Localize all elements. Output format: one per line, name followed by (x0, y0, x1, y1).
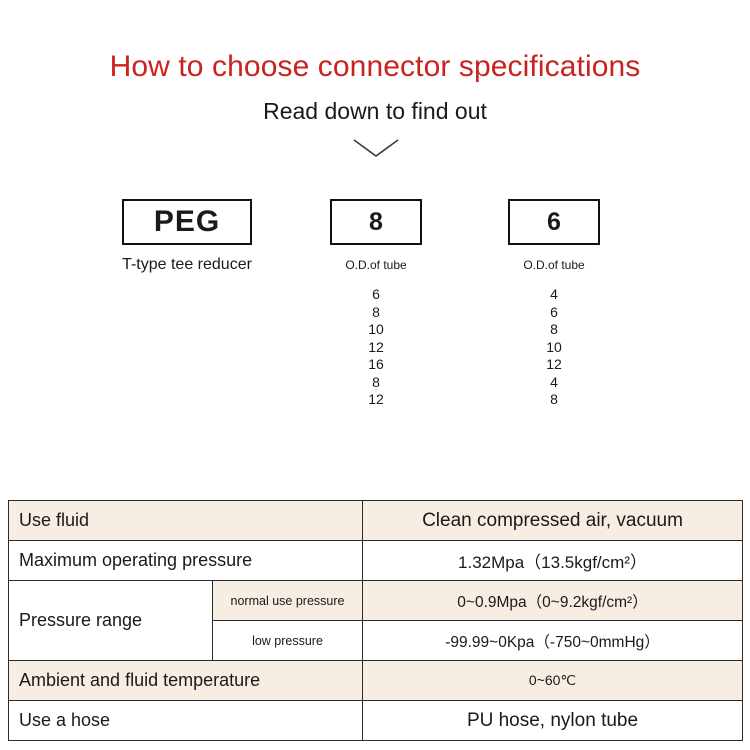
list-item: 8 (330, 304, 422, 322)
list-item: 4 (508, 374, 600, 392)
page-title: How to choose connector specifications (0, 50, 750, 84)
spec-label-temperature: Ambient and fluid temperature (9, 661, 363, 701)
caption-od-2: O.D.of tube (508, 258, 600, 272)
code-box-od-2: 6 (508, 199, 600, 245)
spec-label-pressure-range: Pressure range (9, 581, 213, 661)
code-box-od-1: 8 (330, 199, 422, 245)
caption-series: T-type tee reducer (92, 256, 282, 274)
size-list-column-2: 4 6 8 10 12 4 8 (508, 286, 600, 409)
list-item: 8 (508, 321, 600, 339)
spec-value-hose: PU hose, nylon tube (363, 701, 743, 741)
spec-label-max-pressure: Maximum operating pressure (9, 541, 363, 581)
chevron-down-icon (352, 137, 400, 161)
spec-value-max-pressure: 1.32Mpa（13.5kgf/cm²） (363, 541, 743, 581)
table-row: Use fluid Clean compressed air, vacuum (9, 501, 743, 541)
specification-table: Use fluid Clean compressed air, vacuum M… (8, 500, 743, 741)
spec-value-normal-use-pressure: 0~0.9Mpa（0~9.2kgf/cm²） (363, 581, 743, 621)
spec-label-use-fluid: Use fluid (9, 501, 363, 541)
spec-sublabel-low-pressure: low pressure (213, 621, 363, 661)
list-item: 12 (330, 339, 422, 357)
list-item: 10 (330, 321, 422, 339)
spec-sublabel-normal-use-pressure: normal use pressure (213, 581, 363, 621)
list-item: 6 (330, 286, 422, 304)
list-item: 12 (508, 356, 600, 374)
code-box-series: PEG (122, 199, 252, 245)
size-list-column-1: 6 8 10 12 16 8 12 (330, 286, 422, 409)
spec-value-low-pressure: -99.99~0Kpa（-750~0mmHg） (363, 621, 743, 661)
page-subtitle: Read down to find out (0, 98, 750, 125)
list-item: 16 (330, 356, 422, 374)
list-item: 10 (508, 339, 600, 357)
spec-label-hose: Use a hose (9, 701, 363, 741)
list-item: 8 (508, 391, 600, 409)
spec-value-use-fluid: Clean compressed air, vacuum (363, 501, 743, 541)
spec-value-temperature: 0~60℃ (363, 661, 743, 701)
table-row: Ambient and fluid temperature 0~60℃ (9, 661, 743, 701)
caption-od-1: O.D.of tube (330, 258, 422, 272)
table-row: Use a hose PU hose, nylon tube (9, 701, 743, 741)
list-item: 6 (508, 304, 600, 322)
table-row: Pressure range normal use pressure 0~0.9… (9, 581, 743, 621)
list-item: 4 (508, 286, 600, 304)
list-item: 8 (330, 374, 422, 392)
list-item: 12 (330, 391, 422, 409)
table-row: Maximum operating pressure 1.32Mpa（13.5k… (9, 541, 743, 581)
